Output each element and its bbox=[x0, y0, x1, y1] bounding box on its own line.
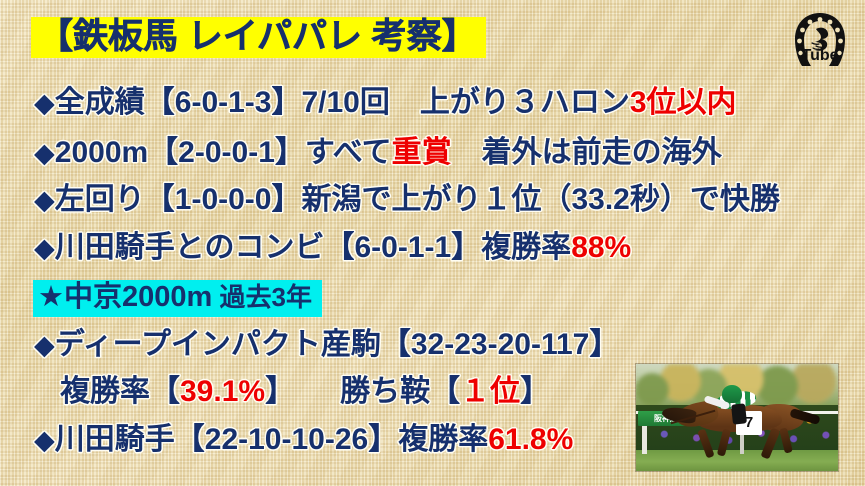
line-total-record-text: 全成績【6-0-1-3】7/10回 上がり３ハロン bbox=[55, 86, 630, 119]
line-fukusho-rate-text-a: 複勝率【 bbox=[60, 375, 180, 408]
bullet-diamond-icon: ◆ bbox=[34, 88, 55, 118]
line-fukusho-rate-accent-a: 39.1% bbox=[180, 375, 265, 408]
line-2000m-accent: 重賞 bbox=[392, 136, 452, 169]
line-kawada-jockey: ◆川田騎手【22-10-10-26】複勝率61.8% bbox=[34, 425, 573, 455]
bullet-diamond-icon: ◆ bbox=[34, 425, 55, 455]
horse-leg bbox=[761, 427, 781, 459]
section-chukyo-2000m-sub: 過去3年 bbox=[212, 282, 312, 312]
horseshoe-tube-logo: Tube bbox=[787, 8, 853, 74]
line-deep-impact: ◆ディープインパクト産駒【32-23-20-117】 bbox=[34, 330, 619, 360]
line-kawada-jockey-text: 川田騎手【22-10-10-26】複勝率 bbox=[55, 423, 488, 456]
page-title: 【鉄板馬 レイパパレ 考察】 bbox=[31, 17, 486, 58]
section-chukyo-2000m: ★中京2000m 過去3年 bbox=[33, 280, 322, 317]
page-title-text: 【鉄板馬 レイパパレ 考察】 bbox=[38, 17, 477, 56]
racehorse-photo: 阪神競馬場 7 bbox=[636, 364, 838, 471]
slide-canvas: 【鉄板馬 レイパパレ 考察】 Tube ◆全成績【6-0-1-3】7/10回 bbox=[0, 0, 865, 486]
line-fukusho-rate-accent-b: １位 bbox=[460, 375, 520, 408]
bullet-diamond-icon: ◆ bbox=[34, 138, 55, 168]
line-fukusho-rate: 複勝率【39.1%】 勝ち鞍【１位】 bbox=[60, 377, 550, 407]
photo-horse: 7 bbox=[662, 396, 814, 462]
line-2000m-text-b: 着外は前走の海外 bbox=[452, 136, 722, 169]
star-icon: ★ bbox=[38, 281, 64, 313]
bullet-diamond-icon: ◆ bbox=[34, 330, 55, 360]
bullet-diamond-icon: ◆ bbox=[34, 233, 55, 263]
photo-jockey bbox=[708, 385, 764, 413]
line-kawada-combo-text: 川田騎手とのコンビ【6-0-1-1】複勝率 bbox=[55, 231, 571, 264]
line-kawada-combo-accent: 88% bbox=[571, 231, 631, 264]
line-total-record: ◆全成績【6-0-1-3】7/10回 上がり３ハロン3位以内 bbox=[34, 88, 737, 118]
line-left-turn: ◆左回り【1-0-0-0】新潟で上がり１位（33.2秒）で快勝 bbox=[34, 185, 780, 215]
line-left-turn-text: 左回り【1-0-0-0】新潟で上がり１位（33.2秒）で快勝 bbox=[55, 183, 780, 216]
line-fukusho-rate-text-b: 】 勝ち鞍【 bbox=[265, 375, 460, 408]
jockey-boot bbox=[731, 403, 747, 424]
line-2000m: ◆2000m【2-0-0-1】すべて重賞 着外は前走の海外 bbox=[34, 138, 722, 168]
line-total-record-accent: 3位以内 bbox=[630, 86, 737, 119]
horse-leg bbox=[697, 429, 714, 459]
bullet-diamond-icon: ◆ bbox=[34, 185, 55, 215]
line-kawada-jockey-accent: 61.8% bbox=[488, 423, 573, 456]
section-chukyo-2000m-main: 中京2000m bbox=[64, 281, 212, 313]
line-kawada-combo: ◆川田騎手とのコンビ【6-0-1-1】複勝率88% bbox=[34, 233, 631, 263]
logo-label: Tube bbox=[801, 47, 838, 64]
horse-leg bbox=[717, 429, 731, 457]
line-deep-impact-text: ディープインパクト産駒【32-23-20-117】 bbox=[55, 328, 620, 361]
line-fukusho-rate-text-c: 】 bbox=[520, 375, 550, 408]
line-2000m-text-a: 2000m【2-0-0-1】すべて bbox=[55, 136, 392, 169]
horse-leg bbox=[779, 427, 793, 453]
